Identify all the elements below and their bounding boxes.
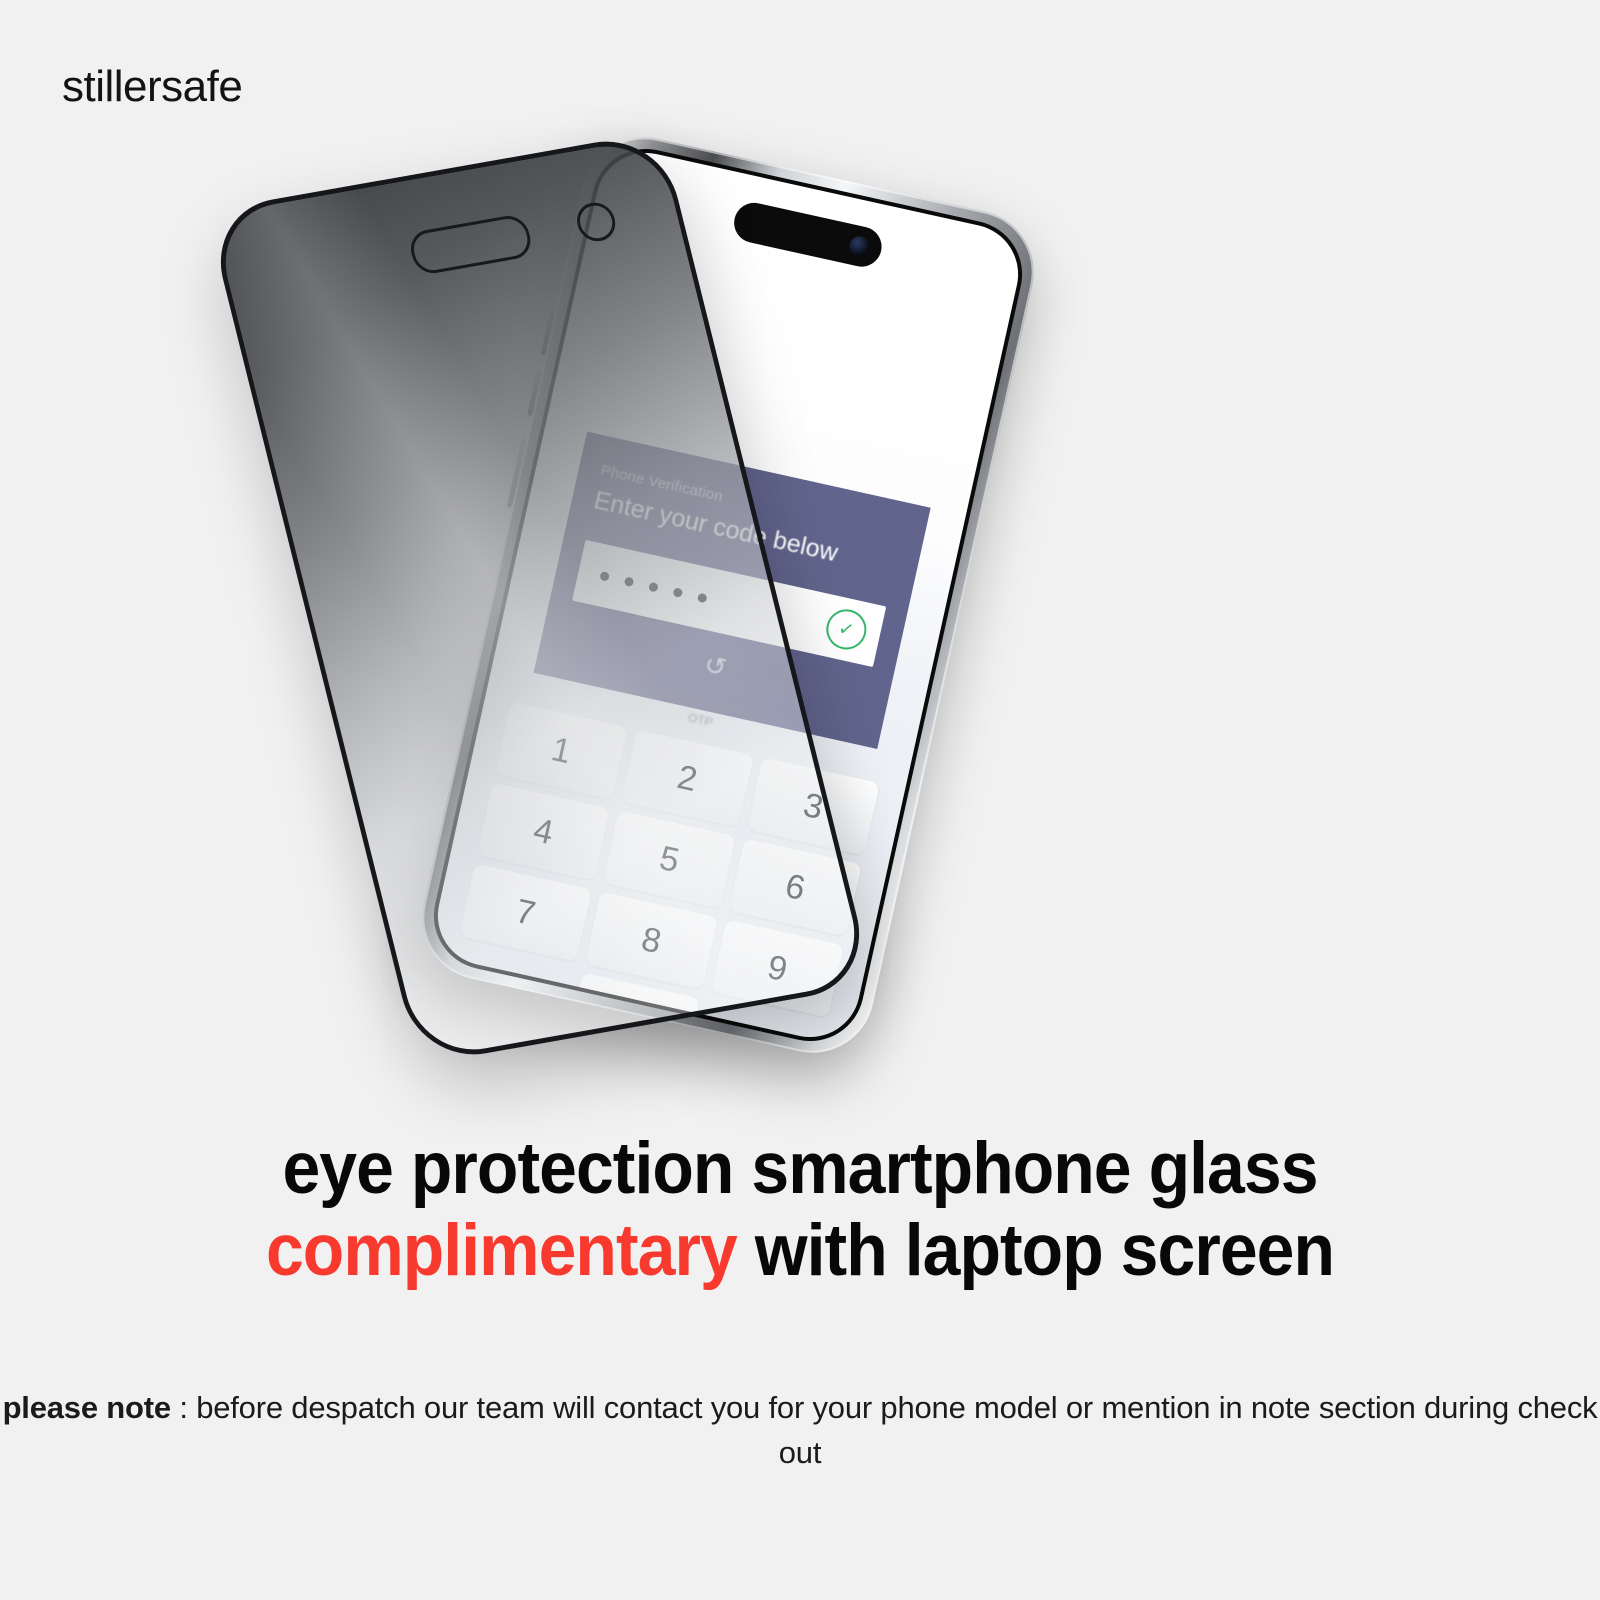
note-label: please note xyxy=(3,1390,171,1425)
headline-accent-word: complimentary xyxy=(266,1210,737,1291)
brand-logo: stillersafe xyxy=(62,62,242,112)
note-separator: : xyxy=(171,1390,196,1425)
product-hero-image: Phone Verification Enter your code below… xyxy=(0,130,1600,1080)
please-note-text: please note : before despatch our team w… xyxy=(0,1386,1600,1476)
note-body: before despatch our team will contact yo… xyxy=(196,1390,1597,1470)
headline-line-2: complimentary with laptop screen xyxy=(56,1210,1544,1292)
page-title: eye protection smartphone glass complime… xyxy=(56,1128,1544,1292)
headline-line-2-rest: with laptop screen xyxy=(737,1210,1334,1291)
dynamic-island xyxy=(730,199,885,271)
check-circle-icon: ✓ xyxy=(822,606,870,654)
front-camera-lens-icon xyxy=(848,234,872,258)
headline-line-1: eye protection smartphone glass xyxy=(56,1128,1544,1210)
